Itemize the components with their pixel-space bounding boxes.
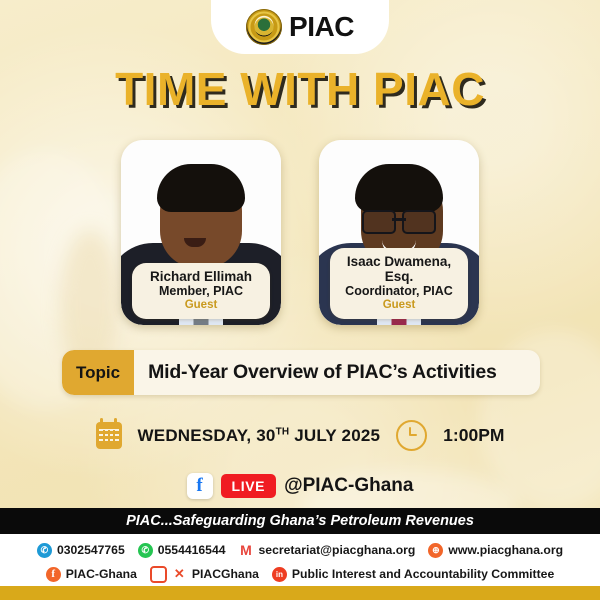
facebook-icon: f	[46, 567, 61, 582]
contact-website[interactable]: ⊕ www.piacghana.org	[428, 543, 563, 558]
facebook-handle[interactable]: @PIAC-Ghana	[284, 475, 413, 497]
speaker-tag: Guest	[136, 299, 266, 312]
contact-row: ✆ 0302547765 ✆ 0554416544 M secretariat@…	[0, 538, 600, 562]
speaker-card: Richard Ellimah Member, PIAC Guest	[121, 140, 281, 325]
event-time: 1:00PM	[443, 425, 504, 446]
contact-whatsapp-text: 0554416544	[158, 543, 226, 557]
tagline-text: PIAC...Safeguarding Ghana’s Petroleum Re…	[126, 513, 474, 529]
speaker-role: Member, PIAC	[136, 284, 266, 298]
social-facebook[interactable]: f PIAC-Ghana	[46, 567, 137, 582]
social-linkedin-text: Public Interest and Accountability Commi…	[292, 567, 554, 581]
contact-website-text: www.piacghana.org	[448, 543, 563, 557]
social-row: f PIAC-Ghana ✕ PIACGhana in Public Inter…	[0, 562, 600, 586]
globe-icon: ⊕	[428, 543, 443, 558]
topic-label: Topic	[62, 350, 134, 395]
logo-wordmark: PIAC	[289, 13, 354, 41]
speaker-card: Isaac Dwamena, Esq. Coordinator, PIAC Gu…	[319, 140, 479, 325]
speaker-role: Coordinator, PIAC	[334, 284, 464, 298]
clock-icon	[396, 420, 427, 451]
speaker-tag: Guest	[334, 299, 464, 312]
social-linkedin[interactable]: in Public Interest and Accountability Co…	[272, 567, 554, 582]
speaker-nameplate: Isaac Dwamena, Esq. Coordinator, PIAC Gu…	[330, 248, 468, 319]
page-title: TIME WITH PIAC	[0, 62, 600, 116]
contact-whatsapp[interactable]: ✆ 0554416544	[138, 543, 226, 558]
whatsapp-icon: ✆	[138, 543, 153, 558]
logo-tab: PIAC	[211, 0, 389, 54]
speaker-name: Richard Ellimah	[136, 269, 266, 284]
instagram-icon	[150, 566, 167, 583]
poster: PIAC TIME WITH PIAC Richard Ellimah Memb…	[0, 0, 600, 600]
x-icon: ✕	[172, 567, 187, 582]
eyeglasses-icon	[362, 210, 436, 230]
social-instagram-x[interactable]: ✕ PIACGhana	[150, 566, 259, 583]
phone-icon: ✆	[37, 543, 52, 558]
social-instagram-x-text: PIACGhana	[192, 567, 259, 581]
speaker-name: Isaac Dwamena, Esq.	[334, 254, 464, 284]
tagline-bar: PIAC...Safeguarding Ghana’s Petroleum Re…	[0, 508, 600, 534]
gmail-icon: M	[239, 543, 254, 558]
speaker-nameplate: Richard Ellimah Member, PIAC Guest	[132, 263, 270, 319]
live-row: f LIVE @PIAC-Ghana	[0, 473, 600, 499]
bottom-gold-bar	[0, 586, 600, 600]
topic-text: Mid-Year Overview of PIAC’s Activities	[134, 350, 540, 395]
linkedin-icon: in	[272, 567, 287, 582]
footer: ✆ 0302547765 ✆ 0554416544 M secretariat@…	[0, 534, 600, 600]
speaker-list: Richard Ellimah Member, PIAC Guest Isaac…	[0, 140, 600, 325]
facebook-icon[interactable]: f	[187, 473, 213, 499]
calendar-icon	[96, 422, 122, 449]
live-badge: LIVE	[221, 474, 277, 498]
contact-phone-text: 0302547765	[57, 543, 125, 557]
event-date: WEDNESDAY, 30TH JULY 2025	[138, 426, 381, 446]
contact-email[interactable]: M secretariat@piacghana.org	[239, 543, 416, 558]
contact-phone[interactable]: ✆ 0302547765	[37, 543, 125, 558]
ghana-coat-of-arms-seal-icon	[246, 9, 282, 45]
topic-bar: Topic Mid-Year Overview of PIAC’s Activi…	[62, 350, 540, 395]
contact-email-text: secretariat@piacghana.org	[259, 543, 416, 557]
schedule-row: WEDNESDAY, 30TH JULY 2025 1:00PM	[0, 420, 600, 451]
social-facebook-text: PIAC-Ghana	[66, 567, 137, 581]
